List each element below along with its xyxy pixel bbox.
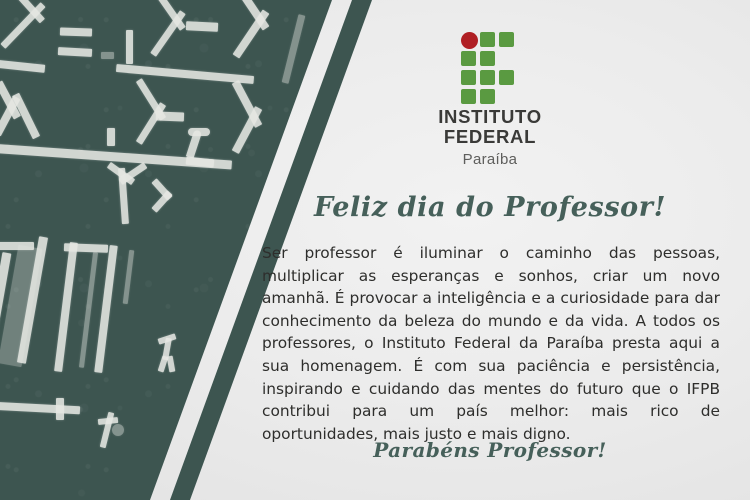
page-title: Feliz dia do Professor!	[250, 192, 730, 223]
chalk-mark	[101, 52, 114, 59]
logo-cell	[480, 70, 495, 85]
logo-cell	[499, 32, 514, 47]
chalk-mark	[56, 398, 64, 420]
institution-logo: INSTITUTO FEDERAL Paraíba	[250, 28, 730, 168]
logo-cell	[480, 32, 495, 47]
body-paragraph: Ser professor é iluminar o caminho das p…	[262, 244, 720, 443]
body-text: Ser professor é iluminar o caminho das p…	[262, 242, 720, 445]
content-column: INSTITUTO FEDERAL Paraíba Feliz dia do P…	[250, 0, 730, 500]
logo-cell	[480, 51, 495, 66]
chalk-mark	[60, 27, 92, 36]
logo-cell	[461, 70, 476, 85]
logo-wordmark-line2: FEDERAL	[250, 128, 730, 147]
logo-subtitle: Paraíba	[250, 151, 730, 168]
greeting-card: INSTITUTO FEDERAL Paraíba Feliz dia do P…	[0, 0, 750, 500]
logo-cell	[499, 70, 514, 85]
logo-cell	[461, 89, 476, 104]
chalk-mark	[126, 30, 133, 64]
signoff-text: Parabéns Professor!	[250, 438, 730, 462]
chalk-mark	[64, 243, 108, 253]
logo-cell	[480, 89, 495, 104]
chalk-mark	[186, 21, 218, 32]
logo-wordmark-line1: INSTITUTO	[438, 106, 542, 127]
ifpb-logo-grid-icon	[458, 28, 522, 100]
chalk-mark	[156, 112, 184, 122]
chalk-mark	[58, 47, 92, 57]
logo-cell	[461, 51, 476, 66]
chalk-mark	[107, 128, 115, 146]
chalk-mark	[188, 128, 210, 136]
logo-wordmark: INSTITUTO FEDERAL	[250, 108, 730, 146]
logo-red-dot	[461, 32, 478, 49]
chalk-mark	[112, 424, 124, 436]
